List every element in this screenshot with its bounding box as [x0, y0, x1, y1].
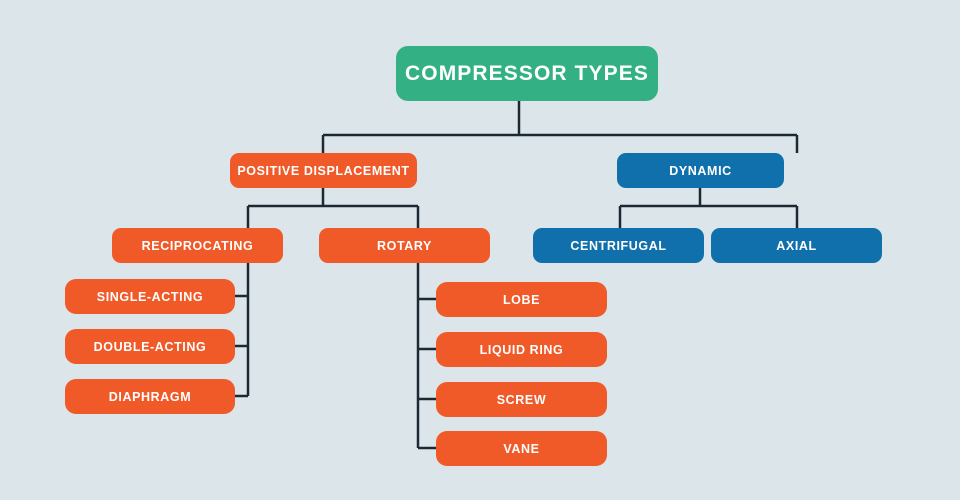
node-axial[interactable]: AXIAL — [711, 228, 882, 263]
node-label: LOBE — [503, 293, 540, 307]
node-screw[interactable]: SCREW — [436, 382, 607, 417]
node-double-acting[interactable]: DOUBLE-ACTING — [65, 329, 235, 364]
node-label: VANE — [503, 442, 539, 456]
node-single-acting[interactable]: SINGLE-ACTING — [65, 279, 235, 314]
node-compressor-types[interactable]: COMPRESSOR TYPES — [396, 46, 658, 101]
node-positive-displacement[interactable]: POSITIVE DISPLACEMENT — [230, 153, 417, 188]
node-rotary[interactable]: ROTARY — [319, 228, 490, 263]
node-label: AXIAL — [776, 239, 817, 253]
node-label: CENTRIFUGAL — [570, 239, 666, 253]
node-label: ROTARY — [377, 239, 432, 253]
node-label: COMPRESSOR TYPES — [405, 62, 649, 86]
node-diaphragm[interactable]: DIAPHRAGM — [65, 379, 235, 414]
node-label: POSITIVE DISPLACEMENT — [237, 164, 409, 178]
node-centrifugal[interactable]: CENTRIFUGAL — [533, 228, 704, 263]
node-label: SINGLE-ACTING — [97, 290, 203, 304]
node-label: SCREW — [497, 393, 547, 407]
node-label: DOUBLE-ACTING — [94, 340, 207, 354]
node-label: DIAPHRAGM — [109, 390, 191, 404]
node-vane[interactable]: VANE — [436, 431, 607, 466]
node-reciprocating[interactable]: RECIPROCATING — [112, 228, 283, 263]
node-lobe[interactable]: LOBE — [436, 282, 607, 317]
node-label: RECIPROCATING — [142, 239, 254, 253]
node-label: LIQUID RING — [480, 343, 564, 357]
node-dynamic[interactable]: DYNAMIC — [617, 153, 784, 188]
compressor-types-diagram: COMPRESSOR TYPES POSITIVE DISPLACEMENT D… — [0, 0, 960, 500]
node-label: DYNAMIC — [669, 164, 732, 178]
node-liquid-ring[interactable]: LIQUID RING — [436, 332, 607, 367]
